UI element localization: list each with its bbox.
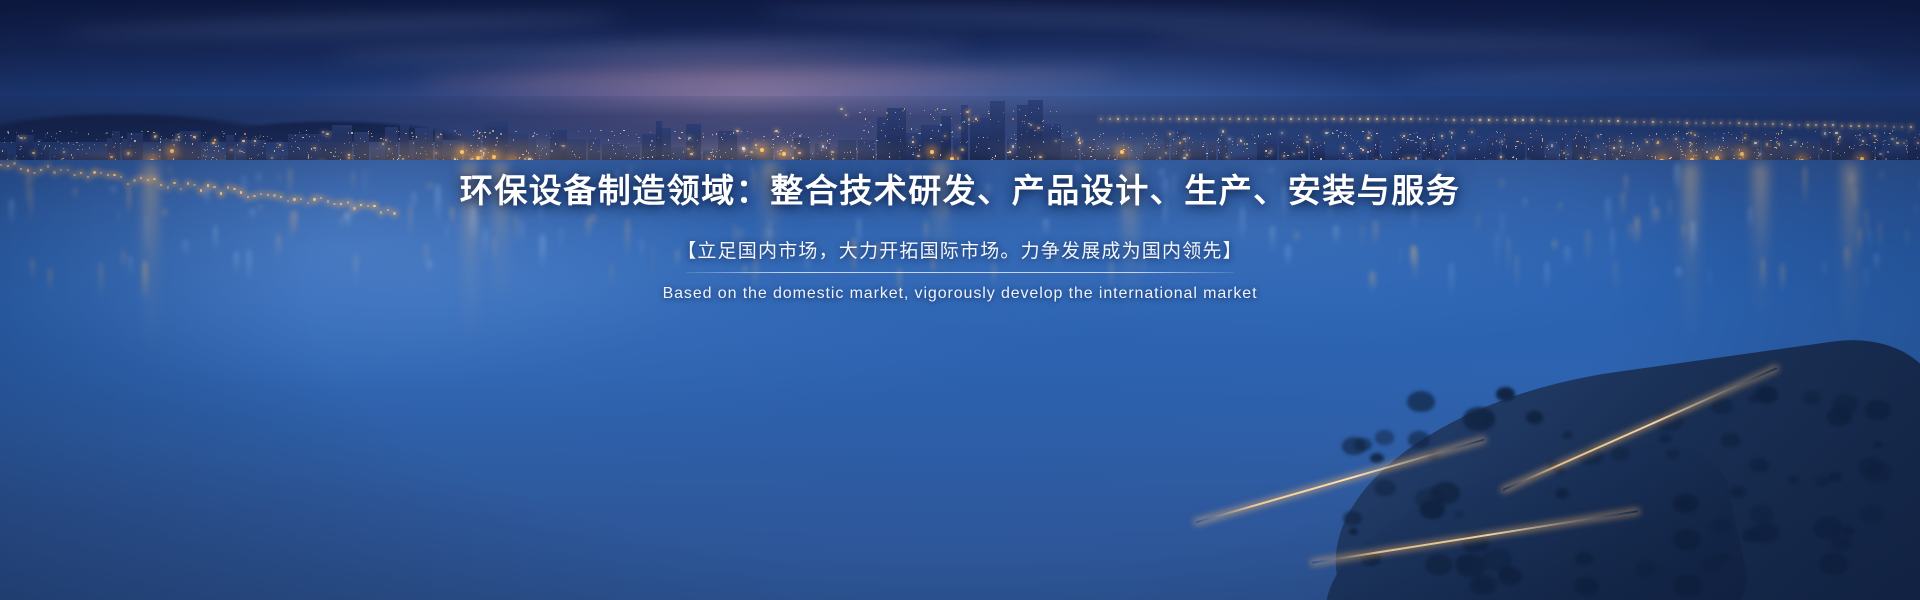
- building-window-light: [1567, 154, 1568, 155]
- far-bridge-light: [1238, 118, 1240, 120]
- building-window-light: [484, 148, 486, 150]
- water-reflection-streak: [1285, 245, 1291, 268]
- building-window-light: [432, 144, 433, 145]
- building-window-light: [794, 132, 795, 133]
- building-window-light: [1484, 157, 1485, 158]
- building-window-light: [185, 135, 186, 136]
- building-window-light: [1417, 149, 1418, 150]
- building-window-light: [1733, 158, 1734, 159]
- far-bridge-light: [1660, 121, 1662, 123]
- building-window-light: [1082, 153, 1083, 154]
- building-window-light: [894, 128, 895, 129]
- building-window-light: [1084, 155, 1085, 156]
- building-window-light: [1619, 140, 1621, 142]
- building-window-light: [351, 132, 352, 133]
- building-window-light: [1637, 145, 1638, 146]
- far-bridge-light: [1272, 118, 1274, 120]
- far-bridge-light: [1333, 118, 1335, 120]
- building-window-light: [777, 151, 778, 152]
- tree-clump: [1526, 411, 1543, 424]
- waterfront-floodlight: [1715, 156, 1719, 160]
- building-window-light: [821, 135, 822, 136]
- building-window-light: [1098, 146, 1099, 147]
- far-bridge-light: [1367, 118, 1369, 120]
- building-window-light: [1314, 156, 1315, 157]
- building-window-light: [56, 133, 57, 134]
- building-window-light: [313, 147, 315, 149]
- building-window-light: [743, 150, 745, 152]
- building-window-light: [1532, 150, 1533, 151]
- building-window-light: [1490, 153, 1491, 154]
- tree-clump: [1575, 552, 1593, 565]
- building-window-light: [639, 158, 640, 159]
- building-window-light: [1646, 141, 1648, 143]
- building-window-light: [326, 133, 328, 135]
- far-bridge-light: [1703, 122, 1705, 124]
- building-window-light: [478, 138, 479, 139]
- building-window-light: [1246, 148, 1247, 149]
- tree-clump: [1349, 528, 1358, 535]
- tree-clump: [1874, 442, 1882, 448]
- building-window-light: [157, 146, 158, 147]
- building-window-light: [1621, 155, 1622, 156]
- tree-clump: [1865, 400, 1891, 420]
- building-window-light: [869, 122, 870, 123]
- building-window-light: [885, 135, 886, 136]
- building-window-light: [173, 144, 174, 145]
- building-window-light: [881, 130, 882, 131]
- building-window-light: [440, 134, 441, 135]
- building-window-light: [297, 147, 298, 148]
- building-window-light: [819, 136, 820, 137]
- building-window-light: [1108, 157, 1109, 158]
- shore-street-light: [380, 211, 382, 213]
- building-window-light: [651, 140, 652, 141]
- building-window-light: [712, 149, 713, 150]
- building-window-light: [987, 137, 988, 138]
- far-bridge-light: [1229, 118, 1231, 120]
- building-window-light: [1647, 155, 1648, 156]
- shore-street-light: [213, 186, 215, 188]
- far-bridge-light: [1832, 124, 1834, 126]
- building-window-light: [1058, 126, 1059, 127]
- building-window-light: [534, 132, 535, 133]
- waterfront-floodlight: [460, 150, 464, 154]
- building-window-light: [536, 134, 537, 135]
- building-window-light: [1287, 155, 1288, 156]
- building-window-light: [24, 137, 26, 139]
- shore-street-light: [267, 194, 269, 196]
- building-window-light: [908, 146, 909, 147]
- building-window-light: [190, 135, 191, 136]
- building-window-light: [1573, 139, 1574, 140]
- far-bridge-light: [1781, 123, 1783, 125]
- building-window-light: [1862, 140, 1864, 142]
- building-window-light: [1859, 145, 1860, 146]
- shore-street-light: [253, 195, 255, 197]
- building-window-light: [1770, 146, 1771, 147]
- left-shore-lights: [0, 150, 420, 240]
- building-window-light: [1029, 146, 1030, 147]
- building-window-light: [1702, 149, 1703, 150]
- building-window-light: [1506, 145, 1507, 146]
- building-window-light: [1612, 154, 1613, 155]
- building-window-light: [1300, 139, 1301, 140]
- building-window-light: [638, 141, 639, 142]
- building-window-light: [912, 136, 913, 137]
- building-window-light: [623, 145, 624, 146]
- building-window-light: [1556, 142, 1557, 143]
- building-window-light: [154, 135, 156, 137]
- building-window-light: [1727, 147, 1728, 148]
- building-window-light: [1906, 140, 1907, 141]
- building-window-light: [553, 133, 554, 134]
- building-window-light: [484, 132, 485, 133]
- building-window-light: [1719, 146, 1720, 147]
- building-window-light: [1548, 149, 1549, 150]
- building-window-light: [1310, 139, 1311, 140]
- building-window-light: [1316, 142, 1317, 143]
- building-window-light: [861, 138, 862, 139]
- building-window-light: [736, 130, 738, 132]
- building-window-light: [1502, 144, 1503, 145]
- building-window-light: [1266, 141, 1267, 142]
- building-window-light: [618, 143, 619, 144]
- building-window-light: [175, 139, 177, 141]
- building-window-light: [254, 145, 255, 146]
- building-window-light: [1317, 146, 1318, 147]
- building-window-light: [1718, 148, 1719, 149]
- building-window-light: [1281, 142, 1282, 143]
- building-window-light: [1367, 151, 1368, 152]
- building-window-light: [774, 138, 775, 139]
- far-bridge-light: [1557, 120, 1559, 122]
- far-bridge-light: [1436, 118, 1438, 120]
- building-window-light: [562, 145, 564, 147]
- building-window-light: [492, 130, 493, 131]
- building-window-light: [1891, 138, 1893, 140]
- building-window-light: [1217, 140, 1218, 141]
- building-window-light: [713, 155, 714, 156]
- building-window-light: [371, 136, 372, 137]
- building-window-light: [326, 136, 327, 137]
- building-window-light: [1776, 147, 1777, 148]
- building-window-light: [1293, 143, 1294, 144]
- building-window-light: [1030, 124, 1032, 126]
- building-window-light: [721, 137, 722, 138]
- far-bridge-light: [1453, 119, 1455, 121]
- building-window-light: [450, 144, 451, 145]
- building-window-light: [1732, 149, 1733, 150]
- building-window-light: [1024, 121, 1025, 122]
- page-title: 环保设备制造领域：整合技术研发、产品设计、生产、安装与服务: [460, 172, 1461, 211]
- building-window-light: [1394, 140, 1395, 141]
- building-window-light: [857, 151, 858, 152]
- building-window-light: [750, 151, 752, 153]
- building-window-light: [96, 139, 97, 140]
- building-window-light: [1742, 139, 1743, 140]
- building-window-light: [1849, 146, 1850, 147]
- building-window-light: [1455, 144, 1456, 145]
- far-bridge-light: [1634, 121, 1636, 123]
- building-window-light: [8, 132, 9, 133]
- building-window-light: [720, 156, 721, 157]
- building-window-light: [1067, 131, 1068, 132]
- building-window-light: [703, 136, 704, 137]
- building-window-light: [469, 154, 470, 155]
- building-window-light: [1696, 149, 1697, 150]
- building-window-light: [1011, 138, 1012, 139]
- building-window-light: [481, 141, 482, 142]
- building-window-light: [71, 131, 72, 132]
- building-window-light: [850, 152, 851, 153]
- building-window-light: [1313, 152, 1314, 153]
- shore-street-light: [160, 184, 162, 186]
- building-window-light: [900, 141, 901, 142]
- building-window-light: [161, 136, 162, 137]
- tree-clump: [1673, 494, 1699, 513]
- building-window-light: [1822, 150, 1823, 151]
- building-window-light: [1501, 140, 1503, 142]
- building-window-light: [1680, 146, 1681, 147]
- far-bridge-light: [1427, 118, 1429, 120]
- building-window-light: [978, 143, 979, 144]
- building-window-light: [643, 157, 644, 158]
- building-window-light: [967, 141, 968, 142]
- building-window-light: [1264, 143, 1265, 144]
- building-window-light: [988, 111, 989, 112]
- building-window-light: [1542, 138, 1543, 139]
- building-window-light: [1407, 139, 1408, 140]
- shore-street-light: [147, 179, 149, 181]
- building-window-light: [1739, 140, 1740, 141]
- building-window-light: [1521, 142, 1522, 143]
- building-window-light: [94, 144, 95, 145]
- far-bridge-light: [1807, 124, 1809, 126]
- building-window-light: [89, 147, 90, 148]
- building-window-light: [1541, 146, 1542, 147]
- far-bridge-light: [1772, 123, 1774, 125]
- building-window-light: [1715, 139, 1716, 140]
- building-window-light: [872, 126, 873, 127]
- building-window-light: [1075, 132, 1077, 134]
- building-window-light: [969, 110, 970, 111]
- building-window-light: [620, 145, 621, 146]
- building-window-light: [1884, 140, 1885, 141]
- far-bridge-light: [1850, 125, 1852, 127]
- building-window-light: [1176, 153, 1177, 154]
- far-bridge-light: [1729, 122, 1731, 124]
- building-window-light: [651, 150, 652, 151]
- water-reflection-streak: [1868, 228, 1871, 253]
- far-bridge-light: [1117, 118, 1119, 120]
- building-window-light: [1781, 157, 1782, 158]
- building-window-light: [21, 148, 22, 149]
- cloud-streak: [760, 4, 1380, 32]
- building-window-light: [172, 140, 173, 141]
- far-bridge-light: [1290, 118, 1292, 120]
- building-window-light: [1103, 143, 1104, 144]
- far-bridge-light: [1574, 120, 1576, 122]
- building-window-light: [390, 141, 391, 142]
- building-window-light: [1532, 146, 1533, 147]
- tree-clump: [1863, 462, 1892, 484]
- shore-street-light: [220, 192, 222, 194]
- building-window-light: [652, 156, 653, 157]
- building-window-light: [485, 136, 486, 137]
- building-window-light: [368, 133, 369, 134]
- building-window-light: [1232, 144, 1233, 145]
- subtitle-english: Based on the domestic market, vigorously…: [663, 285, 1258, 303]
- far-bridge-light: [1281, 118, 1283, 120]
- building-window-light: [223, 136, 224, 137]
- far-bridge-light: [1488, 119, 1490, 121]
- building-window-light: [131, 133, 132, 134]
- shore-street-light: [140, 177, 142, 179]
- building-window-light: [911, 128, 912, 129]
- building-window-light: [1576, 146, 1577, 147]
- building-window-light: [1462, 147, 1464, 149]
- building-window-light: [1696, 143, 1697, 144]
- building-window-light: [32, 130, 33, 131]
- far-bridge-light: [1591, 120, 1593, 122]
- building-window-light: [975, 151, 976, 152]
- far-bridge-light: [1858, 125, 1860, 127]
- shore-street-light: [207, 184, 209, 186]
- water-reflection-streak: [1651, 192, 1654, 231]
- far-bridge: [1100, 112, 1920, 138]
- far-bridge-light: [1350, 118, 1352, 120]
- building-window-light: [1117, 138, 1118, 139]
- building-window-light: [1907, 151, 1908, 152]
- building-window-light: [515, 157, 516, 158]
- far-bridge-light: [1376, 118, 1378, 120]
- building-window-light: [940, 112, 941, 113]
- shore-street-light: [173, 182, 175, 184]
- building-window-light: [425, 138, 426, 139]
- building-window-light: [1079, 142, 1081, 144]
- building-window-light: [1243, 151, 1244, 152]
- building-window-light: [724, 133, 725, 134]
- building-window-light: [1545, 156, 1546, 157]
- building-window-light: [235, 133, 236, 134]
- building-window-light: [1916, 148, 1917, 149]
- building-window-light: [1400, 147, 1401, 148]
- building-window-light: [426, 154, 427, 155]
- tree-clump: [1425, 554, 1453, 575]
- building-window-light: [377, 148, 378, 149]
- building-window-light: [1682, 154, 1683, 155]
- building-window-light: [790, 154, 791, 155]
- building-window-light: [1632, 147, 1633, 148]
- building-window-light: [203, 135, 204, 136]
- building-window-light: [532, 136, 533, 137]
- building-window-light: [1866, 144, 1867, 145]
- building-window-light: [1620, 146, 1622, 148]
- shore-street-light: [113, 174, 115, 176]
- building-window-light: [1131, 150, 1132, 151]
- building-window-light: [674, 131, 675, 132]
- shore-street-light: [47, 165, 49, 167]
- building-window-light: [614, 135, 615, 136]
- building-window-light: [911, 147, 912, 148]
- building-window-light: [82, 144, 83, 145]
- building-window-light: [937, 108, 938, 109]
- building-window-light: [1547, 145, 1548, 146]
- building-window-light: [295, 141, 296, 142]
- tree-clump: [1574, 577, 1599, 596]
- tree-clump: [1827, 407, 1852, 426]
- tree-clump: [1742, 529, 1759, 542]
- far-bridge-light: [1419, 118, 1421, 120]
- building-window-light: [833, 135, 834, 136]
- building-window-light: [1320, 145, 1321, 146]
- building-window-light: [1218, 142, 1219, 143]
- building-window-light: [1013, 110, 1014, 111]
- building-window-light: [716, 133, 717, 134]
- building-window-light: [1218, 149, 1219, 150]
- building-window-light: [725, 152, 726, 153]
- building-window-light: [1818, 156, 1819, 157]
- building-window-light: [1680, 149, 1681, 150]
- shore-street-light: [0, 164, 2, 166]
- far-bridge-light: [1324, 118, 1326, 120]
- building-window-light: [1603, 143, 1604, 144]
- building-window-light: [1204, 142, 1205, 143]
- building-window-light: [1425, 144, 1426, 145]
- building-window-light: [1012, 118, 1013, 119]
- building-window-light: [732, 158, 733, 159]
- shore-street-light: [100, 172, 102, 174]
- building-window-light: [546, 135, 547, 136]
- building-window-light: [747, 155, 748, 156]
- building-window-light: [701, 152, 702, 153]
- building-window-light: [114, 146, 115, 147]
- building-window-light: [1391, 152, 1392, 153]
- water-reflection-streak: [1369, 271, 1376, 294]
- building-window-light: [550, 137, 551, 138]
- building-window-light: [673, 153, 674, 154]
- building-window-light: [1810, 157, 1811, 158]
- far-bridge-light: [1695, 122, 1697, 124]
- water-reflection-streak: [1634, 216, 1640, 247]
- building-window-light: [318, 140, 319, 141]
- building-window-light: [792, 157, 794, 159]
- building-window-light: [1821, 152, 1822, 153]
- building-window-light: [496, 137, 497, 138]
- shore-street-light: [133, 179, 135, 181]
- building-window-light: [1897, 158, 1898, 159]
- tree-clump: [1420, 500, 1445, 519]
- building-window-light: [988, 113, 989, 114]
- building-window-light: [497, 141, 498, 142]
- water-reflection-streak: [1545, 261, 1550, 292]
- building-window-light: [628, 153, 629, 154]
- water-reflection-streak: [234, 251, 239, 275]
- water-reflection-streak: [1874, 253, 1879, 272]
- far-bridge-light: [1384, 118, 1386, 120]
- building-window-light: [1632, 142, 1633, 143]
- water-reflection-streak: [1400, 246, 1402, 273]
- building-window-light: [1800, 156, 1801, 157]
- far-bridge-light: [1169, 118, 1171, 120]
- building-window-light: [1739, 149, 1740, 150]
- hero-banner: 环保设备制造领域：整合技术研发、产品设计、生产、安装与服务 【立足国内市场，大力…: [0, 0, 1920, 600]
- building-window-light: [1690, 150, 1692, 152]
- building-window-light: [575, 156, 576, 157]
- building-window-light: [1506, 147, 1507, 148]
- building-window-light: [1283, 155, 1285, 157]
